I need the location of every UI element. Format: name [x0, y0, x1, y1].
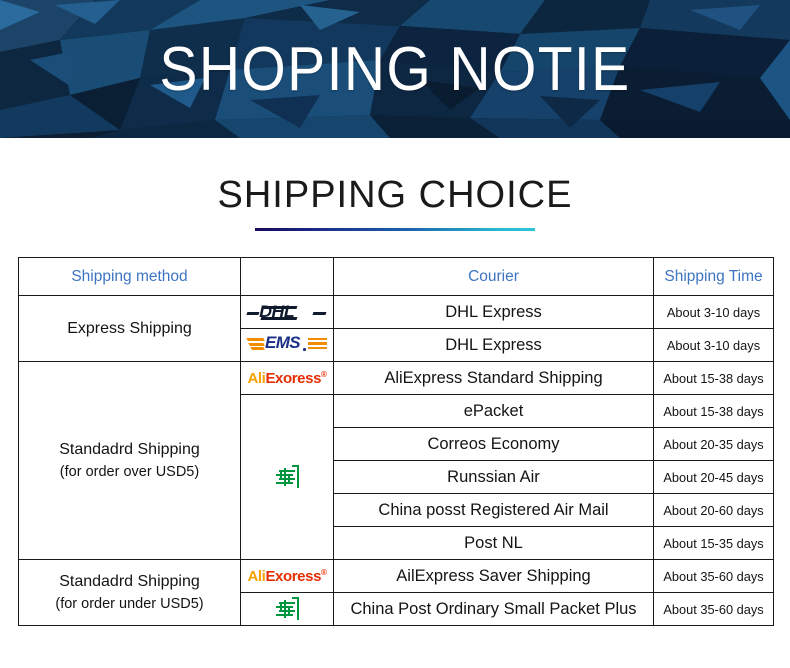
courier-name: Correos Economy	[334, 428, 654, 461]
dhl-logo: DHL	[241, 296, 334, 329]
aliexpress-logo-text-second: Exoress	[265, 568, 321, 585]
shipping-time: About 20-60 days	[654, 494, 774, 527]
column-header-courier: Courier	[334, 258, 654, 296]
table-row: Standadrd Shipping (for order over USD5)…	[19, 362, 774, 395]
shipping-time: About 20-35 days	[654, 428, 774, 461]
courier-name: AliExpress Standard Shipping	[334, 362, 654, 395]
title-underline-rule	[255, 228, 535, 231]
china-post-logo	[241, 593, 334, 626]
courier-name: DHL Express	[334, 329, 654, 362]
table-row: Express Shipping DHL DHL Express About 3…	[19, 296, 774, 329]
aliexpress-logo-text-second: Exoress	[265, 370, 321, 387]
courier-name: Post NL	[334, 527, 654, 560]
courier-name: ePacket	[334, 395, 654, 428]
china-post-logo-mark	[272, 595, 302, 623]
method-standard-shipping-over: Standadrd Shipping (for order over USD5)	[19, 362, 241, 560]
section-title-block: SHIPPING CHOICE	[0, 176, 790, 231]
table-header-row: Shipping method Courier Shipping Time	[19, 258, 774, 296]
shipping-time: About 15-38 days	[654, 395, 774, 428]
page-banner: SHOPING NOTIE	[0, 0, 790, 138]
ems-logo: EMS	[241, 329, 334, 362]
banner-title: SHOPING NOTIE	[32, 0, 759, 138]
method-label-sub: (for order over USD5)	[19, 463, 240, 483]
shipping-time: About 3-10 days	[654, 296, 774, 329]
method-express-shipping: Express Shipping	[19, 296, 241, 362]
courier-name: Runssian Air	[334, 461, 654, 494]
ems-logo-text: EMS	[265, 333, 300, 353]
page-title: SHIPPING CHOICE	[218, 176, 573, 214]
courier-name: AilExpress Saver Shipping	[334, 560, 654, 593]
aliexpress-logo: AliExoress®	[241, 362, 334, 395]
column-header-shipping-time: Shipping Time	[654, 258, 774, 296]
courier-name: China Post Ordinary Small Packet Plus	[334, 593, 654, 626]
shipping-time: About 15-35 days	[654, 527, 774, 560]
method-standard-shipping-under: Standadrd Shipping (for order under USD5…	[19, 560, 241, 626]
china-post-logo-mark	[272, 463, 302, 491]
shipping-time: About 3-10 days	[654, 329, 774, 362]
shipping-choice-table: Shipping method Courier Shipping Time Ex…	[18, 257, 774, 626]
shipping-time: About 15-38 days	[654, 362, 774, 395]
china-post-logo	[241, 395, 334, 560]
aliexpress-logo: AliExoress®	[241, 560, 334, 593]
method-label-main: Standadrd Shipping	[59, 441, 200, 458]
shipping-time: About 35-60 days	[654, 560, 774, 593]
column-header-shipping-method: Shipping method	[19, 258, 241, 296]
table-row: Standadrd Shipping (for order under USD5…	[19, 560, 774, 593]
shipping-table-wrap: Shipping method Courier Shipping Time Ex…	[18, 257, 773, 626]
shipping-time: About 20-45 days	[654, 461, 774, 494]
method-label-main: Standadrd Shipping	[59, 573, 200, 590]
courier-name: DHL Express	[334, 296, 654, 329]
aliexpress-logo-text-first: Ali	[247, 370, 265, 387]
shipping-time: About 35-60 days	[654, 593, 774, 626]
aliexpress-logo-text-first: Ali	[247, 568, 265, 585]
courier-name: China posst Registered Air Mail	[334, 494, 654, 527]
method-label-sub: (for order under USD5)	[19, 595, 240, 615]
column-header-logo	[241, 258, 334, 296]
